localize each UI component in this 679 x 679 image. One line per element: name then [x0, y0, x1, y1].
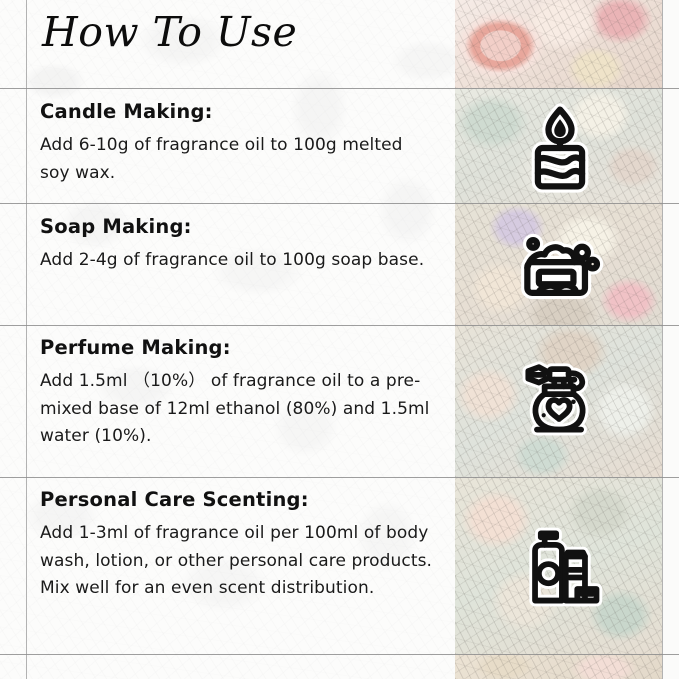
section-body: Add 1-3ml of fragrance oil per 100ml of … [40, 520, 435, 603]
candle-icon [512, 100, 608, 196]
divider-after-perfume [0, 477, 679, 478]
divider-after-soap [0, 325, 679, 326]
section-heading: Perfume Making: [40, 336, 435, 359]
section-body: Add 2-4g of fragrance oil to 100g soap b… [40, 247, 435, 275]
section-personal-care-scenting: Personal Care Scenting: Add 1-3ml of fra… [40, 488, 435, 603]
right-margin [662, 0, 679, 679]
section-soap-making: Soap Making: Add 2-4g of fragrance oil t… [40, 215, 435, 275]
how-to-use-infographic: How To Use Candle Making: Add 6-10g of f… [0, 0, 679, 679]
divider-after-candle [0, 203, 679, 204]
section-heading: Soap Making: [40, 215, 435, 238]
soap-bar-icon [512, 218, 608, 314]
page-title: How To Use [42, 8, 297, 57]
personal-care-products-icon [512, 518, 608, 614]
section-heading: Personal Care Scenting: [40, 488, 435, 511]
section-perfume-making: Perfume Making: Add 1.5ml （10%） of fragr… [40, 336, 435, 451]
perfume-bottle-icon [512, 348, 608, 444]
section-candle-making: Candle Making: Add 6-10g of fragrance oi… [40, 100, 435, 187]
section-heading: Candle Making: [40, 100, 435, 123]
section-body: Add 1.5ml （10%） of fragrance oil to a pr… [40, 368, 435, 451]
right-rule [662, 0, 663, 679]
divider-after-personal-care [0, 654, 679, 655]
section-body: Add 6-10g of fragrance oil to 100g melte… [40, 132, 435, 187]
art-band-footer [455, 654, 662, 679]
divider-after-title [0, 88, 679, 89]
left-rule [26, 0, 27, 679]
art-band-header [455, 0, 662, 88]
